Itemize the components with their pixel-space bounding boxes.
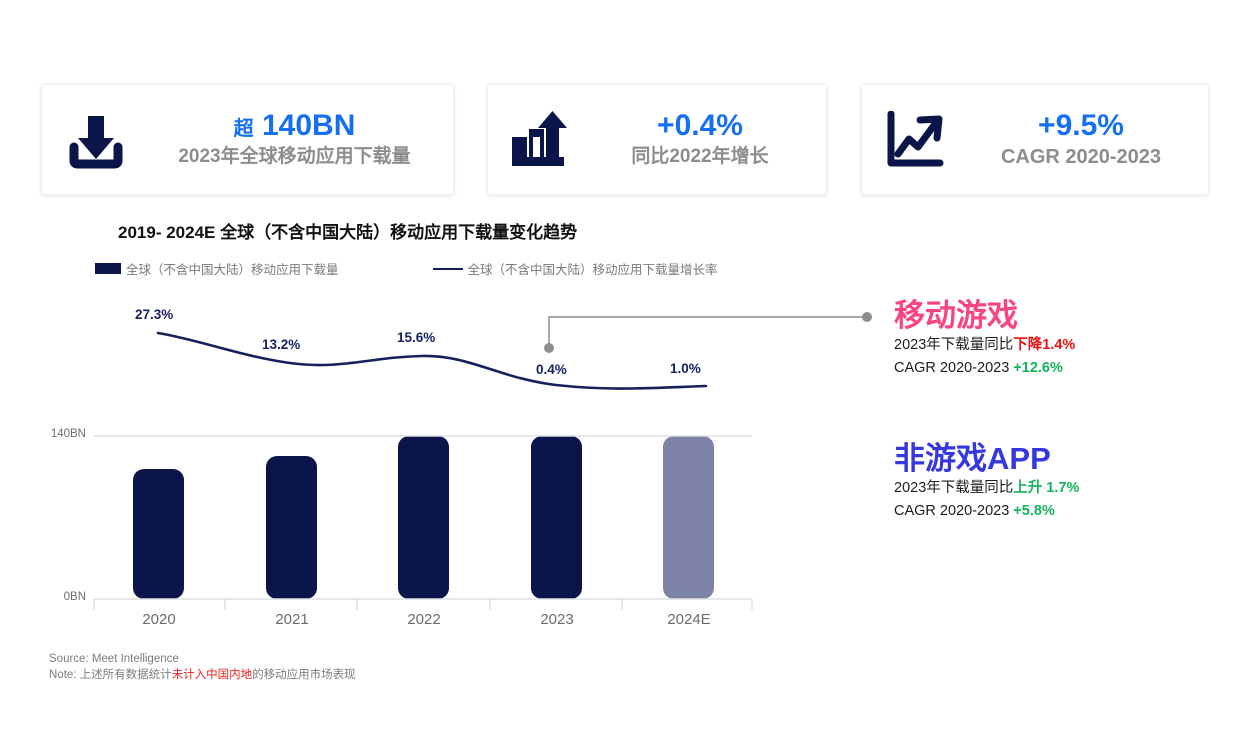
annotation-line-cagr: CAGR 2020-2023 +5.8%: [894, 500, 1079, 523]
annotation-line-highlight: +5.8%: [1013, 503, 1055, 519]
bar-2023: [531, 436, 582, 599]
annotation-non-game-apps: 非游戏APP 2023年下载量同比上升 1.7% CAGR 2020-2023 …: [894, 441, 1079, 524]
footer-note-prefix: Note: 上述所有数据统计: [49, 669, 172, 681]
kpi-subtitle: 2023年全球移动应用下载量: [178, 145, 410, 170]
kpi-value: 超 140BN: [234, 109, 356, 144]
annotation-line-highlight: +12.6%: [1013, 360, 1063, 376]
footer-note: Note: 上述所有数据统计未计入中国内地的移动应用市场表现: [49, 667, 356, 683]
annotation-line-prefix: 2023年下载量同比: [894, 480, 1013, 496]
bar-growth-arrow-icon: [488, 111, 588, 169]
legend-label: 全球（不含中国大陆）移动应用下载量增长率: [468, 259, 718, 278]
annotation-line-prefix: CAGR 2020-2023: [894, 503, 1013, 519]
legend-bar-swatch-icon: [95, 263, 121, 274]
kpi-text-block: 超 140BN 2023年全球移动应用下载量: [150, 109, 453, 169]
growth-label-2023: 0.4%: [536, 362, 567, 377]
x-axis-label-2024E: 2024E: [648, 611, 730, 628]
kpi-value-prefix: 超: [234, 118, 254, 140]
annotation-line-highlight: 上升 1.7%: [1013, 480, 1079, 496]
kpi-subtitle: CAGR 2020-2023: [1001, 144, 1161, 170]
x-axis-label-2021: 2021: [252, 611, 332, 628]
kpi-subtitle: 同比2022年增长: [631, 145, 768, 170]
annotation-line-prefix: 2023年下载量同比: [894, 337, 1013, 353]
bar-2022: [398, 436, 449, 599]
annotation-line-yoy: 2023年下载量同比下降1.4%: [894, 334, 1075, 357]
x-axis-label-2023: 2023: [517, 611, 597, 628]
kpi-text-block: +9.5% CAGR 2020-2023: [968, 109, 1208, 171]
legend-item-growth-rate[interactable]: 全球（不含中国大陆）移动应用下载量增长率: [433, 259, 718, 278]
annotation-line-yoy: 2023年下载量同比上升 1.7%: [894, 477, 1079, 500]
callout-connector: [544, 312, 872, 353]
annotation-line-cagr: CAGR 2020-2023 +12.6%: [894, 357, 1075, 380]
annotation-line-prefix: CAGR 2020-2023: [894, 360, 1013, 376]
growth-label-2020: 27.3%: [135, 307, 173, 322]
footer-notes: Source: Meet Intelligence Note: 上述所有数据统计…: [49, 651, 356, 684]
x-axis-label-2022: 2022: [384, 611, 464, 628]
annotation-heading: 移动游戏: [894, 298, 1075, 334]
growth-label-2021: 13.2%: [262, 337, 300, 352]
kpi-card-total-downloads[interactable]: 超 140BN 2023年全球移动应用下载量: [41, 84, 454, 195]
y-axis-label-top: 140BN: [8, 428, 86, 440]
footer-source: Source: Meet Intelligence: [49, 651, 356, 667]
line-chart-arrow-icon: [862, 111, 968, 169]
chart-title: 2019- 2024E 全球（不含中国大陆）移动应用下载量变化趋势: [118, 218, 577, 243]
y-axis-label-bottom: 0BN: [8, 591, 86, 603]
kpi-value: +0.4%: [657, 109, 743, 144]
x-axis-label-2020: 2020: [119, 611, 199, 628]
legend-item-downloads[interactable]: 全球（不含中国大陆）移动应用下载量: [95, 259, 339, 278]
kpi-text-block: +0.4% 同比2022年增长: [588, 109, 826, 169]
annotation-heading: 非游戏APP: [894, 441, 1079, 477]
annotation-line-highlight: 下降1.4%: [1013, 337, 1075, 353]
legend-line-swatch-icon: [433, 268, 463, 270]
download-icon: [42, 109, 150, 171]
bar-2020: [133, 469, 184, 599]
kpi-value: +9.5%: [1038, 109, 1124, 144]
footer-note-suffix: 的移动应用市场表现: [252, 669, 356, 681]
legend-label: 全球（不含中国大陆）移动应用下载量: [126, 259, 339, 278]
callout-dot-end: [862, 312, 872, 322]
callout-dot-start: [544, 343, 554, 353]
bar-2021: [266, 456, 317, 599]
annotation-mobile-games: 移动游戏 2023年下载量同比下降1.4% CAGR 2020-2023 +12…: [894, 298, 1075, 381]
kpi-card-yoy-growth[interactable]: +0.4% 同比2022年增长: [487, 84, 827, 195]
kpi-value-number: 140BN: [262, 109, 355, 142]
kpi-card-cagr[interactable]: +9.5% CAGR 2020-2023: [861, 84, 1209, 195]
footer-note-highlight: 未计入中国内地: [172, 669, 253, 681]
growth-label-2022: 15.6%: [397, 330, 435, 345]
growth-label-2024E: 1.0%: [670, 361, 701, 376]
bar-2024E: [663, 436, 714, 599]
chart-legend: 全球（不含中国大陆）移动应用下载量 全球（不含中国大陆）移动应用下载量增长率: [95, 259, 718, 278]
